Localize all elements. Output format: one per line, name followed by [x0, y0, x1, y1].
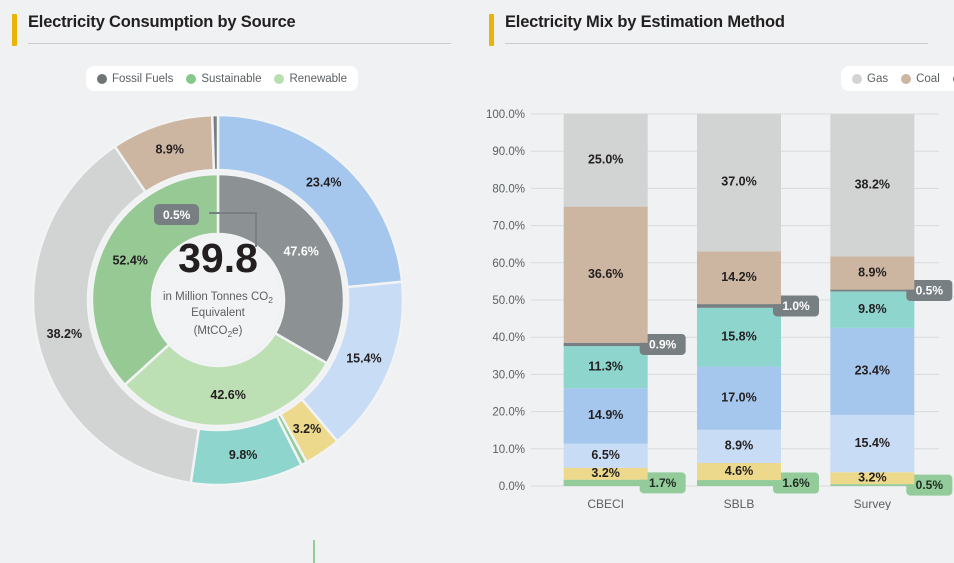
legend-item-label: Gas: [867, 73, 888, 85]
bar-segment-label: 0.9%: [649, 338, 677, 352]
bar-segment-label: 0.5%: [916, 478, 944, 492]
y-axis-tick-label: 10.0%: [492, 444, 525, 456]
bar-segment-label: 0.5%: [916, 284, 944, 298]
bar-segment-label: 17.0%: [721, 391, 756, 405]
donut-slice-label: 3.2%: [293, 422, 322, 436]
page-title: Electricity Consumption by Source: [28, 13, 296, 32]
y-axis-tick-label: 60.0%: [492, 258, 525, 270]
section-title: Electricity Mix by Estimation Method: [505, 13, 785, 32]
legend-item-renewable[interactable]: Renewable: [274, 73, 347, 85]
donut-center-value: 39.8: [178, 235, 258, 281]
y-axis-tick-label: 90.0%: [492, 146, 525, 158]
y-axis-tick-label: 20.0%: [492, 407, 525, 419]
legend-item-sustainable[interactable]: Sustainable: [186, 73, 261, 85]
legend-item-label: Renewable: [289, 73, 347, 85]
title-divider: [505, 43, 928, 44]
bar-segment-label: 3.2%: [858, 470, 887, 484]
legend-dot-icon: [852, 74, 862, 84]
callout-leader-oil: [209, 212, 257, 214]
bar-segment-label: 36.6%: [588, 267, 623, 281]
donut-center-unit-line3: (MtCO2e): [194, 325, 243, 339]
legend-electricity-mix: GasCoalOilNuclearHydroWindSolarOther Ren…: [841, 66, 954, 91]
donut-slice-label: 9.8%: [229, 448, 258, 462]
y-axis-tick-label: 100.0%: [486, 109, 525, 121]
bar-segment-label: 14.9%: [588, 408, 623, 422]
donut-center-unit-line2: Equivalent: [191, 307, 246, 319]
stacked-bar-chart[interactable]: 0.0%10.0%20.0%30.0%40.0%50.0%60.0%70.0%8…: [477, 100, 954, 510]
y-axis-tick-label: 40.0%: [492, 332, 525, 344]
bar-chart-x-axis: CBECISBLBSurvey: [587, 497, 891, 510]
bar-segment-label: 15.8%: [721, 329, 756, 343]
bar-segment-other-renewables[interactable]: [697, 480, 781, 486]
y-axis-tick-label: 0.0%: [499, 481, 525, 493]
bar-segment-label: 9.8%: [858, 302, 887, 316]
bar-segment-label: 25.0%: [588, 152, 623, 166]
donut-slice-label: 38.2%: [47, 327, 82, 341]
dashboard-root: Electricity Consumption by Source Fossil…: [0, 0, 954, 563]
x-axis-tick-label: CBECI: [587, 497, 624, 510]
legend-dot-icon: [901, 74, 911, 84]
accent-bar-icon: [12, 14, 17, 46]
bar-segment-label: 38.2%: [855, 178, 890, 192]
donut-slice-label: 42.6%: [210, 388, 245, 402]
donut-callout-oil: 0.5%: [154, 204, 199, 225]
x-axis-tick-label: Survey: [854, 497, 891, 510]
bar-segment-label: 6.5%: [591, 448, 620, 462]
legend-dot-icon: [274, 74, 284, 84]
legend-dot-icon: [186, 74, 196, 84]
legend-item-label: Coal: [916, 73, 940, 85]
callout-leader-other-stem: [313, 540, 315, 563]
donut-slice-label: 8.9%: [156, 142, 185, 156]
right-panel-header: Electricity Mix by Estimation Method: [489, 13, 928, 49]
legend-item-coal[interactable]: Coal: [901, 73, 940, 85]
accent-bar-icon: [489, 14, 494, 46]
donut-svg: 23.4%15.4%3.2%9.8%38.2%8.9% 47.6%42.6%52…: [18, 100, 418, 500]
callout-leader-oil-stem: [255, 212, 257, 247]
bar-segment-oil[interactable]: [697, 304, 781, 308]
y-axis-tick-label: 30.0%: [492, 369, 525, 381]
y-axis-tick-label: 80.0%: [492, 183, 525, 195]
bar-chart-y-axis: 0.0%10.0%20.0%30.0%40.0%50.0%60.0%70.0%8…: [486, 109, 525, 493]
title-divider: [28, 43, 451, 44]
donut-slice-label: 52.4%: [112, 253, 147, 267]
bar-segment-label: 14.2%: [721, 270, 756, 284]
bar-segment-label: 1.6%: [782, 476, 810, 490]
donut-chart[interactable]: 23.4%15.4%3.2%9.8%38.2%8.9% 47.6%42.6%52…: [18, 100, 418, 500]
legend-item-label: Fossil Fuels: [112, 73, 173, 85]
donut-center-unit-line1: in Million Tonnes CO2: [163, 291, 273, 305]
bar-segment-label: 4.6%: [725, 464, 754, 478]
y-axis-tick-label: 50.0%: [492, 295, 525, 307]
panel-electricity-consumption: Electricity Consumption by Source Fossil…: [0, 0, 477, 563]
bar-segment-label: 3.2%: [591, 466, 620, 480]
bar-segment-oil[interactable]: [564, 343, 648, 346]
x-axis-tick-label: SBLB: [724, 497, 755, 510]
bar-segment-other-renewables[interactable]: [564, 480, 648, 486]
bar-segment-label: 8.9%: [725, 439, 754, 453]
bar-segment-label: 8.9%: [858, 265, 887, 279]
legend-dot-icon: [97, 74, 107, 84]
y-axis-tick-label: 70.0%: [492, 221, 525, 233]
panel-electricity-mix: Electricity Mix by Estimation Method Gas…: [477, 0, 954, 563]
stacked-bar-svg: 0.0%10.0%20.0%30.0%40.0%50.0%60.0%70.0%8…: [477, 100, 954, 510]
bar-segment-label: 37.0%: [721, 175, 756, 189]
donut-slice-label: 23.4%: [306, 176, 341, 190]
legend-item-label: Sustainable: [201, 73, 261, 85]
legend-item-gas[interactable]: Gas: [852, 73, 888, 85]
left-panel-header: Electricity Consumption by Source: [12, 13, 451, 49]
bar-segment-label: 1.0%: [782, 299, 810, 313]
bar-segment-oil[interactable]: [830, 290, 914, 292]
donut-slice-label: 15.4%: [346, 351, 381, 365]
donut-slice-oil[interactable]: [212, 115, 218, 170]
bar-segment-label: 11.3%: [588, 359, 623, 373]
bar-chart-bars: 1.7%3.2%6.5%14.9%11.3%0.9%36.6%25.0%1.6%…: [564, 114, 953, 496]
legend-consumption: Fossil Fuels Sustainable Renewable: [86, 66, 358, 91]
bar-segment-label: 23.4%: [855, 364, 890, 378]
legend-item-fossil-fuels[interactable]: Fossil Fuels: [97, 73, 173, 85]
donut-slice-label: 47.6%: [283, 244, 318, 258]
bar-segment-label: 1.7%: [649, 476, 677, 490]
bar-segment-label: 15.4%: [855, 436, 890, 450]
